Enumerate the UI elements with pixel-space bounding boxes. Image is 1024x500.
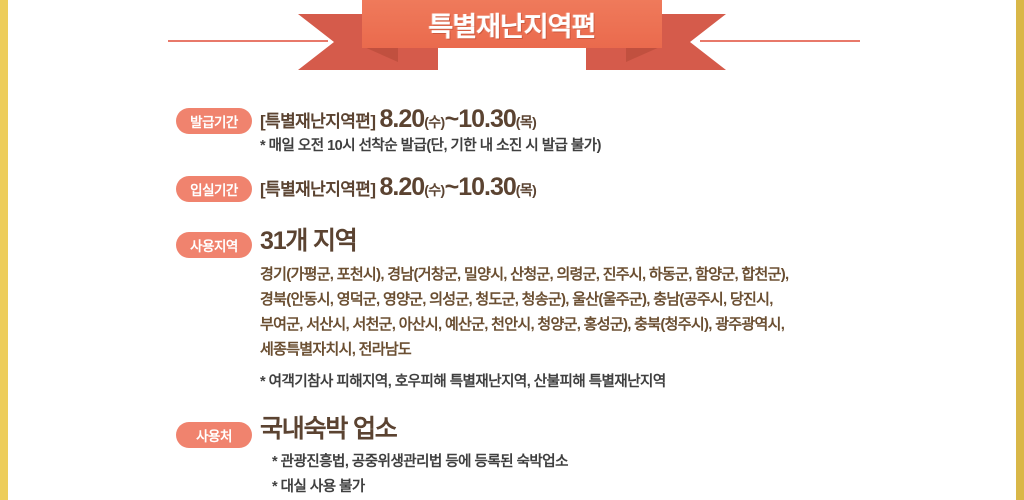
issue-period-end-day: (목) [516,114,536,130]
badge-checkin-period: 입실기간 [176,176,252,202]
checkin-period-headline: [특별재난지역편] 8.20(수)~10.30(목) [260,174,1024,203]
usage-area-note: * 여객기참사 피해지역, 호우피해 특별재난지역, 산불피해 특별재난지역 [260,370,1024,395]
banner-title: 특별재난지역편 [429,5,596,44]
row-issue-period: 발급기간 [특별재난지역편] 8.20(수)~10.30(목) * 매일 오전 … [0,106,1024,157]
badge-usage-area: 사용지역 [176,232,252,258]
checkin-period-end-date: 10.30 [458,173,516,201]
checkin-period-prefix: [특별재난지역편] [260,180,375,199]
banner-rule-left [168,40,328,42]
checkin-period-start-day: (수) [424,182,444,198]
ribbon-plate: 특별재난지역편 [362,0,662,48]
issue-period-prefix: [특별재난지역편] [260,112,375,131]
issue-period-body: [특별재난지역편] 8.20(수)~10.30(목) * 매일 오전 10시 선… [176,106,1024,157]
region-line: 경기(가평군, 포천시), 경남(거창군, 밀양시, 산청군, 의령군, 진주시… [260,262,1024,287]
banner-rule-right [700,40,860,42]
row-usage-place: 사용처 국내숙박 업소 * 관광진흥법, 공중위생관리법 등에 등록된 숙박업소… [0,414,1024,500]
usage-place-note: * 대실 사용 불가 [272,475,1024,500]
checkin-period-start-date: 8.20 [380,173,425,201]
issue-period-end-date: 10.30 [458,105,516,133]
region-line: 부여군, 서산시, 서천군, 아산시, 예산군, 천안시, 청양군, 홍성군),… [260,312,1024,337]
issue-period-start-date: 8.20 [380,105,425,133]
ribbon-banner: 특별재난지역편 [0,0,1024,80]
region-line: 경북(안동시, 영덕군, 영양군, 의성군, 청도군, 청송군), 울산(울주군… [260,287,1024,312]
region-line: 세종특별자치시, 전라남도 [260,337,1024,362]
badge-issue-period: 발급기간 [176,108,252,134]
usage-place-notes: * 관광진흥법, 공중위생관리법 등에 등록된 숙박업소 * 대실 사용 불가 [260,450,1024,500]
usage-place-headline: 국내숙박 업소 [260,414,1024,444]
row-checkin-period: 입실기간 [특별재난지역편] 8.20(수)~10.30(목) [0,174,1024,203]
issue-period-note: * 매일 오전 10시 선착순 발급(단, 기한 내 소진 시 발급 불가) [260,135,1024,157]
issue-period-start-day: (수) [424,114,444,130]
usage-area-body: 31개 지역 경기(가평군, 포천시), 경남(거창군, 밀양시, 산청군, 의… [176,226,1024,395]
badge-usage-place: 사용처 [176,422,252,448]
row-usage-area: 사용지역 31개 지역 경기(가평군, 포천시), 경남(거창군, 밀양시, 산… [0,226,1024,395]
checkin-period-end-day: (목) [516,182,536,198]
checkin-period-body: [특별재난지역편] 8.20(수)~10.30(목) [176,174,1024,203]
usage-area-region-list: 경기(가평군, 포천시), 경남(거창군, 밀양시, 산청군, 의령군, 진주시… [260,262,1024,362]
issue-period-range-separator: ~ [445,105,459,133]
issue-period-headline: [특별재난지역편] 8.20(수)~10.30(목) [260,106,1024,135]
usage-place-note: * 관광진흥법, 공중위생관리법 등에 등록된 숙박업소 [272,450,1024,475]
usage-place-body: 국내숙박 업소 * 관광진흥법, 공중위생관리법 등에 등록된 숙박업소 * 대… [176,414,1024,500]
usage-area-headline: 31개 지역 [260,226,1024,256]
checkin-period-range-separator: ~ [445,173,459,201]
